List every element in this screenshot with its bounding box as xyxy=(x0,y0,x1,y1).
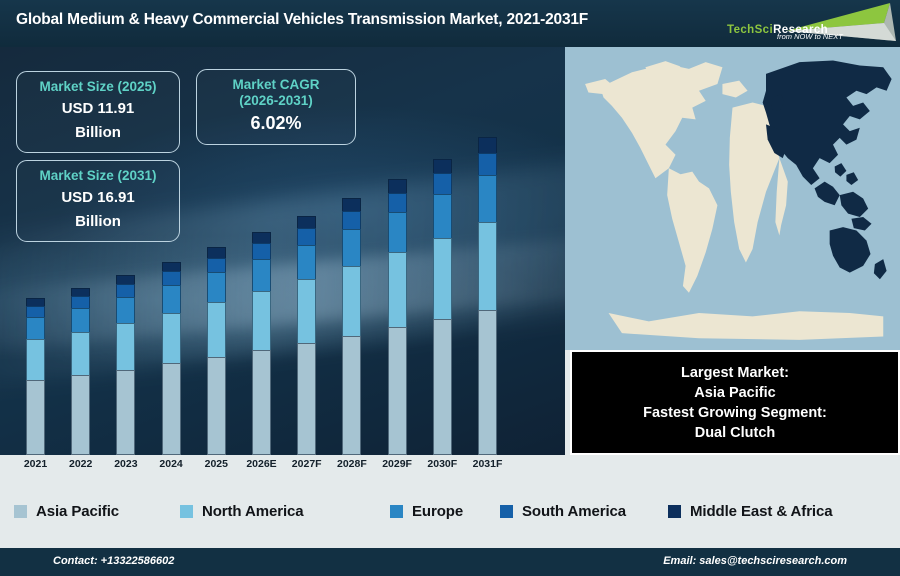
bar-segment-middle-east-africa xyxy=(116,275,135,284)
techsci-logo: TechSciResearch from NOW to NEXT xyxy=(715,0,900,47)
bar-segment-middle-east-africa xyxy=(252,232,271,243)
bar-segment-north-america xyxy=(342,266,361,335)
bar-segment-north-america xyxy=(433,238,452,319)
bar-2031F xyxy=(478,137,497,455)
bar-segment-north-america xyxy=(297,279,316,343)
bar-segment-asia-pacific xyxy=(478,310,497,455)
bar-segment-middle-east-africa xyxy=(478,137,497,153)
bar-2029F xyxy=(388,179,407,455)
bar-segment-south-america xyxy=(342,211,361,229)
bar-segment-europe xyxy=(342,229,361,266)
chart-panel: Market Size (2025) USD 11.91 Billion Mar… xyxy=(0,47,565,455)
bar-segment-europe xyxy=(207,272,226,302)
legend-item-middle-east-africa[interactable]: Middle East & Africa xyxy=(668,503,832,520)
bar-segment-north-america xyxy=(252,291,271,350)
legend-swatch-icon xyxy=(14,505,27,518)
bar-segment-europe xyxy=(388,212,407,252)
x-axis-label-2024: 2024 xyxy=(148,458,194,470)
bar-segment-europe xyxy=(116,297,135,323)
bar-segment-north-america xyxy=(478,222,497,310)
bar-segment-south-america xyxy=(297,228,316,245)
bar-segment-south-america xyxy=(252,243,271,259)
x-axis-label-2027F: 2027F xyxy=(284,458,330,470)
legend-swatch-icon xyxy=(390,505,403,518)
bar-segment-asia-pacific xyxy=(388,327,407,455)
logo-tagline: from NOW to NEXT xyxy=(777,32,843,41)
x-axis-label-2030F: 2030F xyxy=(419,458,465,470)
legend-label: Europe xyxy=(412,503,463,520)
x-axis-labels: 202120222023202420252026E2027F2028F2029F… xyxy=(0,455,565,483)
x-axis-label-2031F: 2031F xyxy=(465,458,511,470)
legend-label: Asia Pacific xyxy=(36,503,119,520)
bar-2028F xyxy=(342,198,361,455)
legend-item-south-america[interactable]: South America xyxy=(500,503,626,520)
bar-2023 xyxy=(116,275,135,455)
bar-segment-north-america xyxy=(207,302,226,357)
bar-segment-europe xyxy=(71,308,90,332)
x-axis-label-2026E: 2026E xyxy=(239,458,285,470)
bar-segment-asia-pacific xyxy=(26,380,45,455)
footer-contact: Contact: +13322586602 xyxy=(53,555,174,567)
bar-segment-europe xyxy=(26,317,45,339)
footer-email: Email: sales@techsciresearch.com xyxy=(663,555,847,567)
bar-segment-middle-east-africa xyxy=(297,216,316,228)
x-axis-label-2022: 2022 xyxy=(58,458,104,470)
legend-swatch-icon xyxy=(500,505,513,518)
bar-segment-europe xyxy=(252,259,271,291)
bar-segment-south-america xyxy=(26,306,45,317)
legend-label: South America xyxy=(522,503,626,520)
bar-segment-south-america xyxy=(433,173,452,194)
fastest-segment-label: Fastest Growing Segment: xyxy=(643,403,827,423)
bar-segment-south-america xyxy=(162,271,181,285)
legend-label: Middle East & Africa xyxy=(690,503,832,520)
legend-item-europe[interactable]: Europe xyxy=(390,503,463,520)
bar-2030F xyxy=(433,159,452,456)
bar-segment-europe xyxy=(478,175,497,222)
world-map-svg xyxy=(565,47,900,350)
bar-segment-middle-east-africa xyxy=(162,262,181,272)
logo-brand-first: TechSci xyxy=(727,24,773,36)
bar-segment-north-america xyxy=(162,313,181,364)
x-axis-label-2029F: 2029F xyxy=(374,458,420,470)
x-axis-label-2025: 2025 xyxy=(193,458,239,470)
bar-segment-europe xyxy=(433,194,452,237)
bar-segment-asia-pacific xyxy=(342,336,361,455)
x-axis-label-2021: 2021 xyxy=(13,458,59,470)
bar-segment-middle-east-africa xyxy=(433,159,452,174)
bar-2022 xyxy=(71,288,90,455)
bar-segment-middle-east-africa xyxy=(388,179,407,193)
bar-segment-south-america xyxy=(207,258,226,273)
callout-box: Largest Market: Asia Pacific Fastest Gro… xyxy=(570,350,900,455)
bar-segment-asia-pacific xyxy=(116,370,135,455)
bar-2025 xyxy=(207,247,226,455)
bar-segment-north-america xyxy=(71,332,90,375)
legend-label: North America xyxy=(202,503,304,520)
bar-segment-south-america xyxy=(116,284,135,297)
bar-segment-middle-east-africa xyxy=(207,247,226,257)
bar-segment-south-america xyxy=(478,153,497,176)
largest-market-label: Largest Market: xyxy=(681,363,789,383)
world-map xyxy=(565,47,900,350)
chart-legend: Asia PacificNorth AmericaEuropeSouth Ame… xyxy=(0,483,900,540)
legend-item-asia-pacific[interactable]: Asia Pacific xyxy=(14,503,119,520)
bar-segment-europe xyxy=(297,245,316,280)
bar-segment-south-america xyxy=(388,193,407,213)
page-title: Global Medium & Heavy Commercial Vehicle… xyxy=(16,11,588,29)
header-bar: Global Medium & Heavy Commercial Vehicle… xyxy=(0,0,900,47)
x-axis-label-2023: 2023 xyxy=(103,458,149,470)
legend-swatch-icon xyxy=(668,505,681,518)
bar-segment-asia-pacific xyxy=(252,350,271,455)
stacked-bar-plot xyxy=(0,47,565,455)
largest-market-value: Asia Pacific xyxy=(694,383,775,403)
fastest-segment-value: Dual Clutch xyxy=(695,423,776,443)
bar-segment-asia-pacific xyxy=(162,363,181,455)
bar-segment-middle-east-africa xyxy=(71,288,90,296)
bar-2021 xyxy=(26,298,45,455)
bar-segment-north-america xyxy=(388,252,407,327)
bar-segment-asia-pacific xyxy=(433,319,452,455)
bar-segment-north-america xyxy=(116,323,135,370)
bar-segment-middle-east-africa xyxy=(342,198,361,211)
x-axis-label-2028F: 2028F xyxy=(329,458,375,470)
bar-segment-north-america xyxy=(26,339,45,380)
bar-2027F xyxy=(297,216,316,455)
bar-segment-asia-pacific xyxy=(207,357,226,455)
bar-segment-middle-east-africa xyxy=(26,298,45,306)
bar-segment-europe xyxy=(162,285,181,313)
bar-2026E xyxy=(252,232,271,455)
legend-item-north-america[interactable]: North America xyxy=(180,503,304,520)
bar-segment-asia-pacific xyxy=(71,375,90,455)
bar-2024 xyxy=(162,262,181,455)
bar-segment-south-america xyxy=(71,296,90,308)
infographic-root: Global Medium & Heavy Commercial Vehicle… xyxy=(0,0,900,576)
bar-segment-asia-pacific xyxy=(297,343,316,455)
legend-swatch-icon xyxy=(180,505,193,518)
footer-bar: Contact: +13322586602 Email: sales@techs… xyxy=(0,548,900,576)
